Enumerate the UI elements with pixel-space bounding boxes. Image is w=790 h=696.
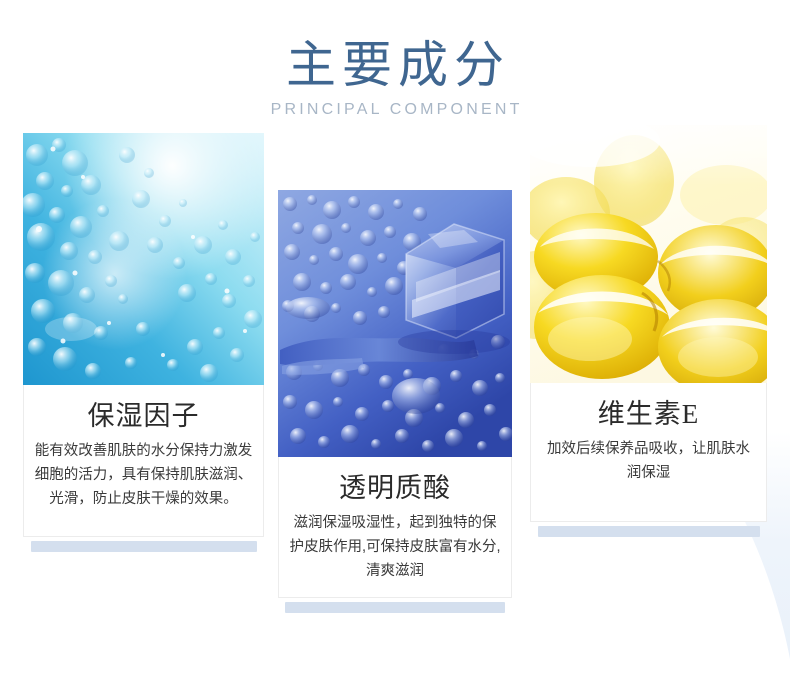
page-subtitle: PRINCIPAL COMPONENT [0,100,790,120]
card-body-text: 加效后续保养品吸收，让肌肤水润保湿 [541,437,756,485]
water-bubbles-photo [23,133,264,385]
card-title: 保湿因子 [34,399,253,433]
principal-component-page: 主要成分 PRINCIPAL COMPONENT [0,0,790,696]
card-shadow-bar [285,602,505,613]
ingredient-card-vitamin-e: 维生素E 加效后续保养品吸收，让肌肤水润保湿 [530,125,767,537]
vitamin-e-softgel-capsules-photo [530,125,767,383]
card-text-panel: 透明质酸 滋润保湿吸湿性，起到独特的保护皮肤作用,可保持皮肤富有水分,清爽滋润 [278,457,512,598]
ingredient-card-moisturizing-factor: 保湿因子 能有效改善肌肤的水分保持力激发细胞的活力，具有保持肌肤滋润、光滑，防止… [23,133,264,552]
card-title: 维生素E [541,397,756,431]
card-shadow-bar [31,541,257,552]
card-shadow-bar [538,526,760,537]
card-body-text: 能有效改善肌肤的水分保持力激发细胞的活力，具有保持肌肤滋润、光滑，防止皮肤干燥的… [34,439,253,511]
card-body-text: 滋润保湿吸湿性，起到独特的保护皮肤作用,可保持皮肤富有水分,清爽滋润 [289,511,501,583]
ice-cube-water-droplets-photo [278,190,512,457]
ingredient-card-hyaluronic-acid: 透明质酸 滋润保湿吸湿性，起到独特的保护皮肤作用,可保持皮肤富有水分,清爽滋润 [278,190,512,613]
card-title: 透明质酸 [289,471,501,505]
page-title: 主要成分 [0,36,790,94]
section-header: 主要成分 PRINCIPAL COMPONENT [0,36,790,120]
card-text-panel: 保湿因子 能有效改善肌肤的水分保持力激发细胞的活力，具有保持肌肤滋润、光滑，防止… [23,385,264,537]
card-text-panel: 维生素E 加效后续保养品吸收，让肌肤水润保湿 [530,383,767,522]
